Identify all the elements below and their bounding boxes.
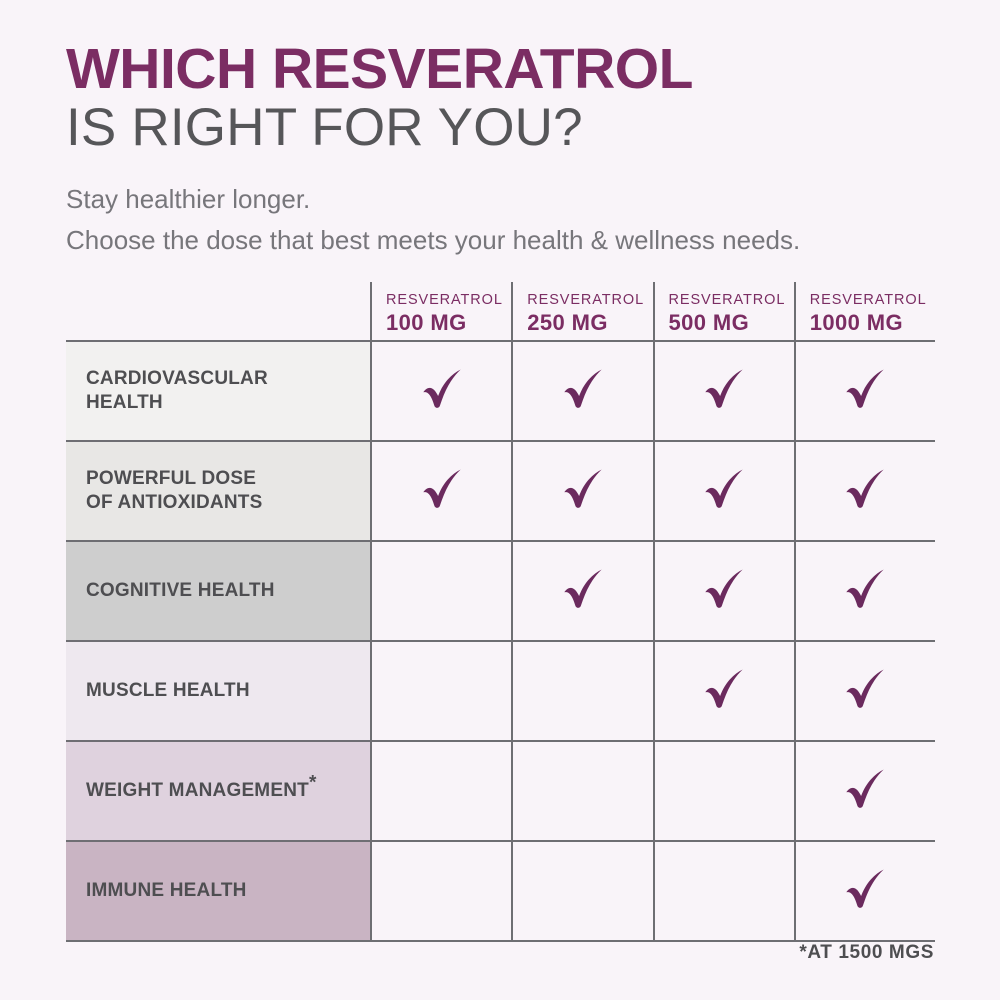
- cell-r4-c3: [794, 742, 935, 840]
- checkmark-icon: [557, 465, 609, 517]
- cell-r5-c3: [794, 842, 935, 940]
- table-row: WEIGHT MANAGEMENT*: [66, 740, 935, 840]
- row-label-cell-3: MUSCLE HEALTH: [66, 642, 370, 740]
- cell-r1-c0: [370, 442, 511, 540]
- table-row: CARDIOVASCULARHEALTH: [66, 340, 935, 440]
- checkmark-icon: [698, 465, 750, 517]
- row-label-cell-2: COGNITIVE HEALTH: [66, 542, 370, 640]
- row-label: WEIGHT MANAGEMENT*: [86, 779, 317, 803]
- cell-r2-c0: [370, 542, 511, 640]
- checkmark-icon: [839, 865, 891, 917]
- cell-r2-c2: [653, 542, 794, 640]
- row-label: POWERFUL DOSEOF ANTIOXIDANTS: [86, 467, 262, 516]
- column-brand-2: RESVERATROL: [669, 291, 786, 309]
- column-header-2: RESVERATROL 500 MG: [653, 282, 794, 340]
- column-dose-3: 1000 MG: [810, 310, 903, 336]
- cell-r3-c1: [511, 642, 652, 740]
- checkmark-icon: [839, 665, 891, 717]
- page-title-line2: IS RIGHT FOR YOU?: [66, 98, 946, 157]
- column-brand-0: RESVERATROL: [386, 291, 503, 309]
- comparison-table: RESVERATROL 100 MG RESVERATROL 250 MG RE…: [66, 282, 935, 942]
- column-brand-1: RESVERATROL: [527, 291, 644, 309]
- cell-r3-c2: [653, 642, 794, 740]
- cell-r5-c2: [653, 842, 794, 940]
- checkmark-icon: [839, 565, 891, 617]
- checkmark-icon: [698, 365, 750, 417]
- cell-r0-c2: [653, 342, 794, 440]
- checkmark-icon: [416, 365, 468, 417]
- table-row: POWERFUL DOSEOF ANTIOXIDANTS: [66, 440, 935, 540]
- column-header-1: RESVERATROL 250 MG: [511, 282, 652, 340]
- column-dose-2: 500 MG: [669, 310, 750, 336]
- cell-r5-c0: [370, 842, 511, 940]
- page-title-line1: WHICH RESVERATROL: [66, 40, 946, 98]
- cell-r0-c1: [511, 342, 652, 440]
- checkmark-icon: [416, 465, 468, 517]
- cell-r2-c1: [511, 542, 652, 640]
- column-brand-3: RESVERATROL: [810, 291, 927, 309]
- row-label: COGNITIVE HEALTH: [86, 579, 275, 603]
- table-body: CARDIOVASCULARHEALTHPOWERFUL DOSEOF ANTI…: [66, 340, 935, 942]
- cell-r0-c0: [370, 342, 511, 440]
- row-label: MUSCLE HEALTH: [86, 679, 250, 703]
- column-dose-0: 100 MG: [386, 310, 467, 336]
- checkmark-icon: [839, 465, 891, 517]
- table-header-row: RESVERATROL 100 MG RESVERATROL 250 MG RE…: [66, 282, 935, 340]
- row-label-cell-5: IMMUNE HEALTH: [66, 842, 370, 940]
- column-dose-1: 250 MG: [527, 310, 608, 336]
- cell-r5-c1: [511, 842, 652, 940]
- table-row: MUSCLE HEALTH: [66, 640, 935, 740]
- checkmark-icon: [698, 665, 750, 717]
- cell-r3-c0: [370, 642, 511, 740]
- footnote: *AT 1500 MGS: [799, 942, 934, 964]
- row-label-cell-1: POWERFUL DOSEOF ANTIOXIDANTS: [66, 442, 370, 540]
- cell-r4-c2: [653, 742, 794, 840]
- subtitle-block: Stay healthier longer. Choose the dose t…: [66, 179, 946, 260]
- cell-r1-c1: [511, 442, 652, 540]
- column-header-0: RESVERATROL 100 MG: [370, 282, 511, 340]
- subtitle-line-1: Stay healthier longer.: [66, 179, 946, 219]
- cell-r1-c2: [653, 442, 794, 540]
- row-label: CARDIOVASCULARHEALTH: [86, 367, 268, 416]
- cell-r1-c3: [794, 442, 935, 540]
- header-block: WHICH RESVERATROL IS RIGHT FOR YOU? Stay…: [66, 40, 946, 260]
- checkmark-icon: [839, 765, 891, 817]
- checkmark-icon: [557, 365, 609, 417]
- subtitle-line-2: Choose the dose that best meets your hea…: [66, 220, 946, 260]
- row-label-cell-0: CARDIOVASCULARHEALTH: [66, 342, 370, 440]
- cell-r2-c3: [794, 542, 935, 640]
- cell-r4-c1: [511, 742, 652, 840]
- checkmark-icon: [839, 365, 891, 417]
- cell-r3-c3: [794, 642, 935, 740]
- column-header-3: RESVERATROL 1000 MG: [794, 282, 935, 340]
- row-label-cell-4: WEIGHT MANAGEMENT*: [66, 742, 370, 840]
- infographic-page: WHICH RESVERATROL IS RIGHT FOR YOU? Stay…: [0, 0, 1000, 1000]
- checkmark-icon: [557, 565, 609, 617]
- table-corner-cell: [66, 282, 370, 340]
- table-row: COGNITIVE HEALTH: [66, 540, 935, 640]
- cell-r0-c3: [794, 342, 935, 440]
- checkmark-icon: [698, 565, 750, 617]
- row-label: IMMUNE HEALTH: [86, 879, 247, 903]
- table-row: IMMUNE HEALTH: [66, 840, 935, 942]
- cell-r4-c0: [370, 742, 511, 840]
